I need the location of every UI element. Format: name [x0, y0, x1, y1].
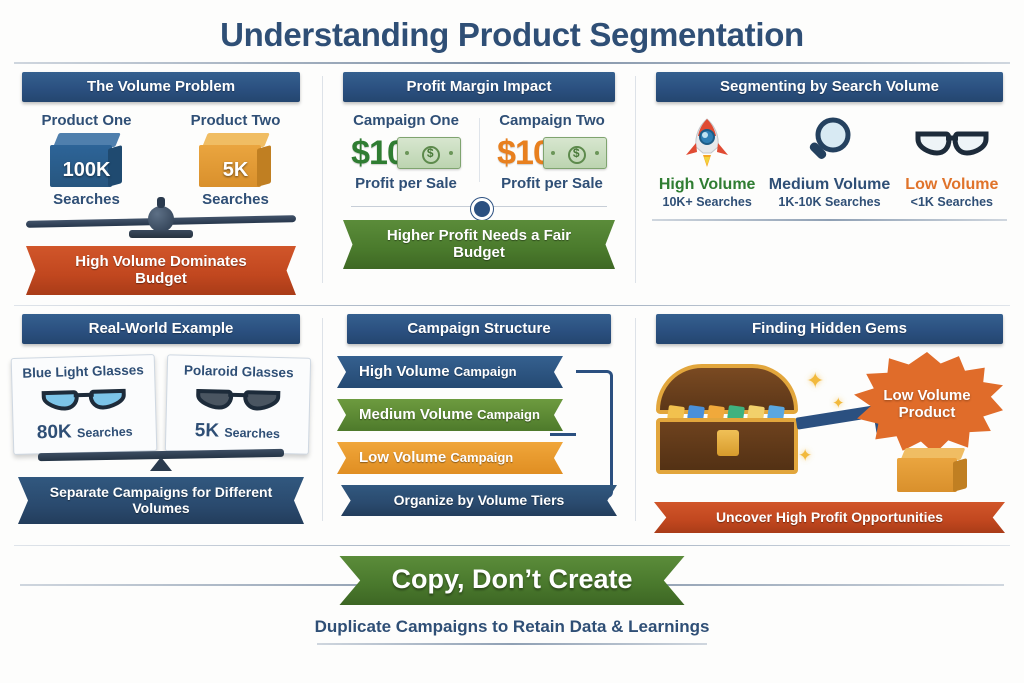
burst-line-2: Product: [899, 404, 956, 421]
footer-subtitle-rule: [317, 643, 707, 645]
panel-campaign-structure: Campaign Structure High Volume Campaign …: [323, 306, 635, 533]
card-two-value: 5K Searches: [170, 419, 304, 444]
treasure-chest-icon: [654, 364, 802, 476]
banner-wrap-structure: Organize by Volume Tiers: [341, 485, 617, 516]
panel-real-world: Real-World Example Blue Light Glasses 80…: [0, 306, 322, 533]
blue-light-glasses-icon: [16, 380, 151, 420]
card-two-title: Polaroid Glasses: [172, 362, 306, 380]
dollar-bill-icon: $: [397, 137, 461, 169]
card-one-title: Blue Light Glasses: [16, 362, 150, 381]
tier-medium-volume: Medium Volume 1K-10K Searches: [768, 110, 890, 209]
page-title: Understanding Product Segmentation: [0, 0, 1024, 54]
campaign-two: Campaign Two $10 $ Profit per Sale: [479, 112, 625, 192]
magnifier-icon: [768, 110, 890, 176]
seesaw-icon: [12, 449, 310, 471]
card-polaroid-glasses: Polaroid Glasses 5K Searches: [165, 354, 311, 454]
tier-high-volume-name: High Volume: [646, 176, 768, 194]
banner-organize-by-tiers: Organize by Volume Tiers: [341, 485, 617, 516]
product-one-label: Product One: [22, 112, 152, 129]
panel-hidden-gems: Finding Hidden Gems ✦ ✦: [636, 306, 1023, 533]
dollar-bill-icon: $: [543, 137, 607, 169]
segmenting-underline: [652, 219, 1007, 221]
row-top: The Volume Problem Product One 100K Sear…: [0, 64, 1024, 295]
campaign-money-row: Campaign One $10 $ Profit per Sale Campa…: [333, 112, 625, 192]
blue-box-icon: 100K: [50, 133, 124, 189]
bracket-connector-icon: [576, 370, 613, 498]
panel-profit-margin: Profit Margin Impact Campaign One $10 $ …: [323, 64, 635, 295]
banner-high-volume-dominates: High Volume Dominates Budget: [26, 246, 296, 295]
panel-header-segmenting: Segmenting by Search Volume: [656, 72, 1003, 102]
panel-volume-problem: The Volume Problem Product One 100K Sear…: [0, 64, 322, 295]
product-two: Product Two 5K Searches: [171, 112, 301, 208]
campaign-bar-low: Low Volume Campaign: [337, 442, 563, 474]
balance-scale-icon: [12, 204, 310, 238]
tier-low-volume-range: <1K Searches: [891, 195, 1013, 209]
orange-package-icon: [897, 448, 969, 494]
panel-header-profit-margin: Profit Margin Impact: [343, 72, 615, 102]
tier-high-volume-range: 10K+ Searches: [646, 195, 768, 209]
campaign-one-label: Campaign One: [333, 112, 479, 129]
product-one-value: 100K: [50, 159, 124, 182]
rocket-icon: [646, 110, 768, 176]
footer-ribbon: Copy, Don’t Create: [339, 556, 684, 605]
row-bottom: Real-World Example Blue Light Glasses 80…: [0, 306, 1024, 533]
campaign-one: Campaign One $10 $ Profit per Sale: [333, 112, 479, 192]
campaign-one-caption: Profit per Sale: [333, 175, 479, 192]
campaign-two-label: Campaign Two: [479, 112, 625, 129]
banner-wrap-gems: Uncover High Profit Opportunities: [654, 502, 1005, 533]
campaign-two-caption: Profit per Sale: [479, 175, 625, 192]
hidden-gems-illustration: ✦ ✦ ✦ Low Volume Product: [646, 350, 1013, 500]
orange-box-icon: 5K: [199, 133, 273, 189]
panel-segmenting: Segmenting by Search Volume High Vol: [636, 64, 1023, 295]
footer-subtitle: Duplicate Campaigns to Retain Data & Lea…: [0, 617, 1024, 637]
infographic-canvas: Understanding Product Segmentation The V…: [0, 0, 1024, 683]
sparkle-icon: ✦: [806, 368, 824, 394]
card-blue-light-glasses: Blue Light Glasses 80K Searches: [11, 354, 158, 455]
panel-header-volume-problem: The Volume Problem: [22, 72, 300, 102]
tier-low-volume-name: Low Volume: [891, 176, 1013, 194]
banner-wrap-real-world: Separate Campaigns for Different Volumes: [18, 477, 304, 524]
sparkle-icon: ✦: [798, 446, 812, 466]
product-two-label: Product Two: [171, 112, 301, 129]
panel-header-real-world: Real-World Example: [22, 314, 300, 344]
volume-tier-row: High Volume 10K+ Searches Medium Volume …: [646, 110, 1013, 209]
tier-low-volume: Low Volume <1K Searches: [891, 110, 1013, 209]
banner-uncover-opportunities: Uncover High Profit Opportunities: [654, 502, 1005, 533]
campaign-bar-high: High Volume Campaign: [337, 356, 563, 388]
panel-header-campaign-structure: Campaign Structure: [347, 314, 611, 344]
banner-wrap-volume: High Volume Dominates Budget: [26, 246, 296, 295]
product-box-row: Product One 100K Searches Product Two 5K…: [12, 112, 310, 208]
product-two-value: 5K: [199, 159, 273, 182]
banner-higher-profit: Higher Profit Needs a Fair Budget: [343, 220, 615, 269]
product-one: Product One 100K Searches: [22, 112, 152, 208]
panel-header-hidden-gems: Finding Hidden Gems: [656, 314, 1003, 344]
campaign-bar-medium: Medium Volume Campaign: [337, 399, 563, 431]
campaign-bar-list: High Volume Campaign Medium Volume Campa…: [337, 356, 621, 474]
polaroid-glasses-icon: [171, 380, 306, 419]
starburst-low-volume-product: Low Volume Product: [851, 352, 1003, 456]
footer-divider: [14, 545, 1010, 546]
burst-line-1: Low Volume: [883, 387, 970, 404]
footer: Copy, Don’t Create Duplicate Campaigns t…: [0, 556, 1024, 645]
glasses-icon: [891, 110, 1013, 176]
example-card-row: Blue Light Glasses 80K Searches Polaroid…: [12, 356, 310, 453]
tier-high-volume: High Volume 10K+ Searches: [646, 110, 768, 209]
banner-separate-campaigns: Separate Campaigns for Different Volumes: [18, 477, 304, 524]
tier-medium-volume-name: Medium Volume: [768, 176, 890, 194]
card-one-value: 80K Searches: [17, 419, 152, 445]
tier-medium-volume-range: 1K-10K Searches: [768, 195, 890, 209]
connector-node: [351, 198, 607, 214]
banner-wrap-profit: Higher Profit Needs a Fair Budget: [343, 220, 615, 269]
